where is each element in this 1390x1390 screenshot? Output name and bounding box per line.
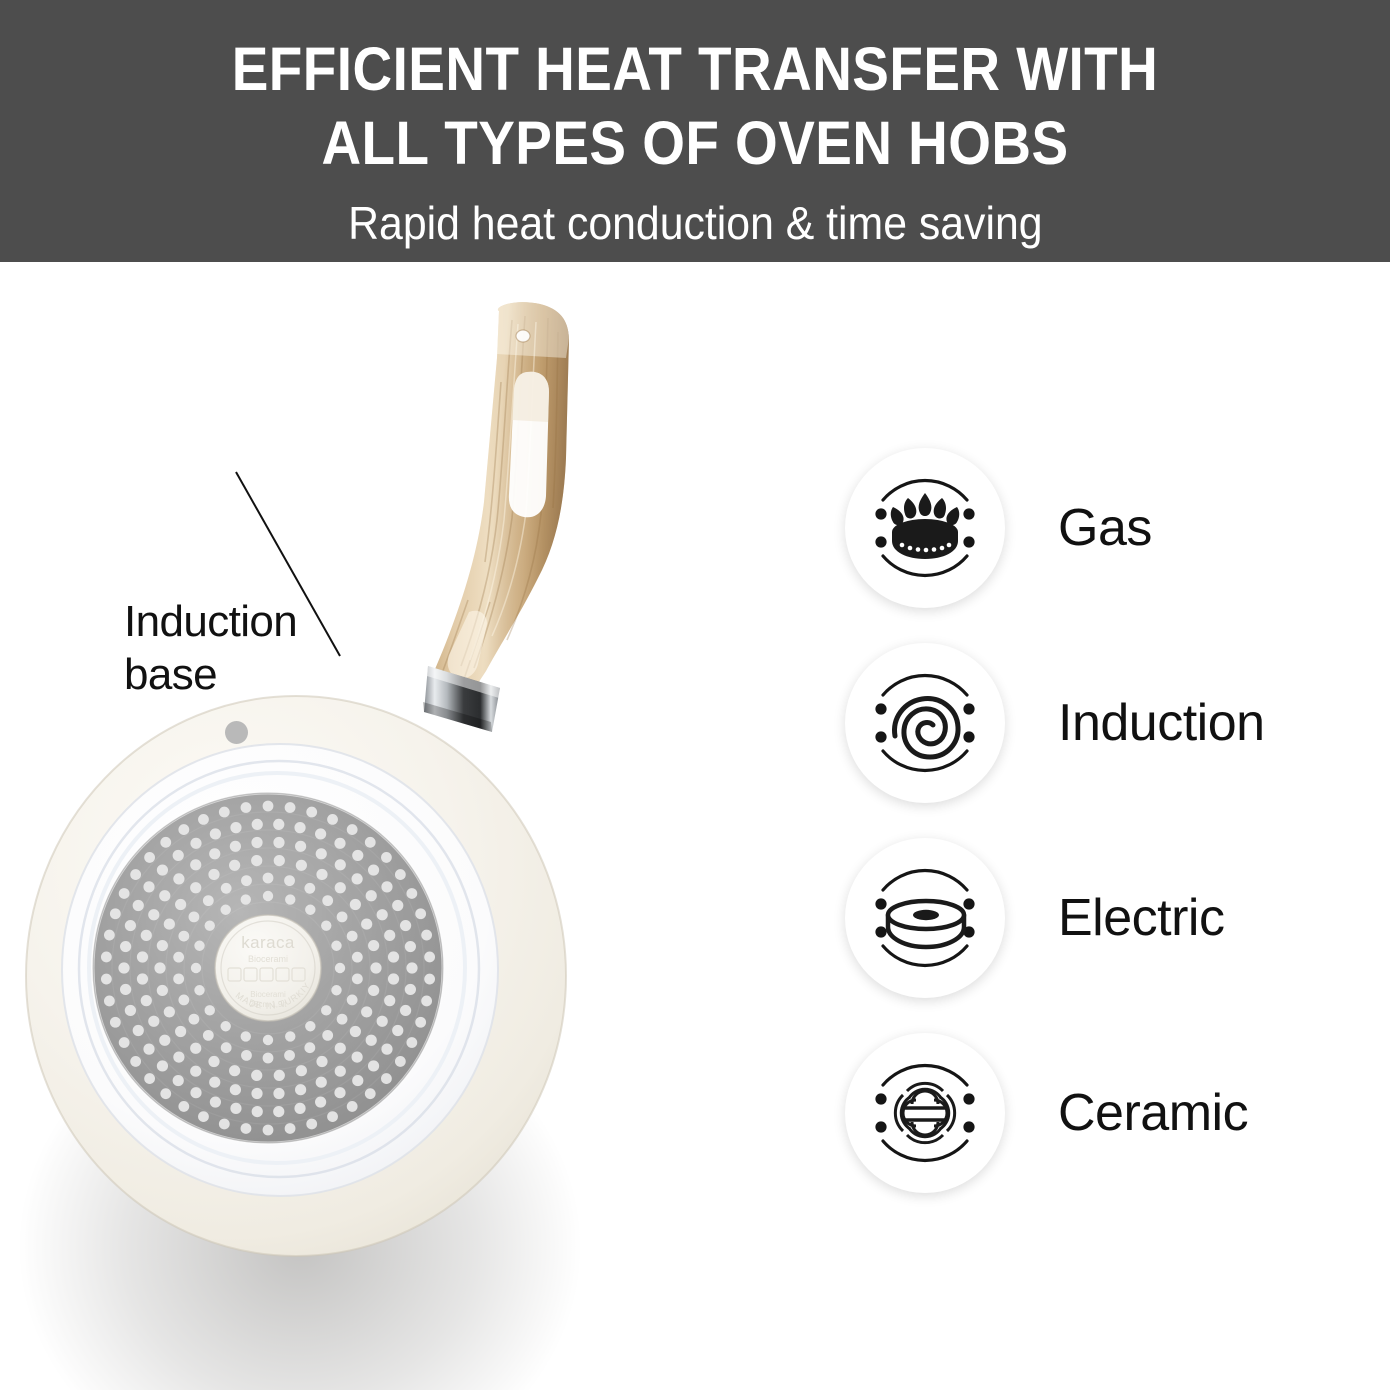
electric-hotplate-icon [850, 843, 1000, 993]
hob-label-electric: Electric [1058, 888, 1224, 948]
gas-burner-icon [850, 453, 1000, 603]
hob-type-list: Gas Induction [845, 430, 1365, 1210]
hob-row-ceramic[interactable]: Ceramic [845, 1015, 1365, 1210]
hob-badge-ceramic[interactable] [845, 1033, 1005, 1193]
medallion-line1: Biocerami [250, 990, 286, 999]
hob-label-ceramic: Ceramic [1058, 1083, 1248, 1143]
hob-row-induction[interactable]: Induction [845, 625, 1365, 820]
hob-row-gas[interactable]: Gas [845, 430, 1365, 625]
pan-handle [428, 302, 569, 700]
banner-subtitle: Rapid heat conduction & time saving [348, 196, 1042, 250]
infographic-canvas: EFFICIENT HEAT TRANSFER WITH ALL TYPES O… [0, 0, 1390, 1390]
hob-row-electric[interactable]: Electric [845, 820, 1365, 1015]
callout-anchor-dot [225, 721, 248, 744]
header-banner: EFFICIENT HEAT TRANSFER WITH ALL TYPES O… [0, 0, 1390, 262]
medallion-brand: karaca [241, 933, 295, 952]
hob-badge-induction[interactable] [845, 643, 1005, 803]
ceramic-radiant-icon [850, 1038, 1000, 1188]
medallion-subbrand: Biocerami [248, 954, 288, 964]
hob-badge-gas[interactable] [845, 448, 1005, 608]
induction-base-callout: Induction base [124, 595, 404, 701]
induction-coil-icon [850, 648, 1000, 798]
hob-label-gas: Gas [1058, 498, 1152, 558]
hob-badge-electric[interactable] [845, 838, 1005, 998]
hob-label-induction: Induction [1058, 693, 1265, 753]
product-illustration: karaca Biocerami Biocerami 28cm 1,9lt MA… [0, 262, 820, 1390]
frying-pan-graphic: karaca Biocerami Biocerami 28cm 1,9lt MA… [0, 262, 820, 1390]
banner-title: EFFICIENT HEAT TRANSFER WITH ALL TYPES O… [137, 32, 1253, 180]
